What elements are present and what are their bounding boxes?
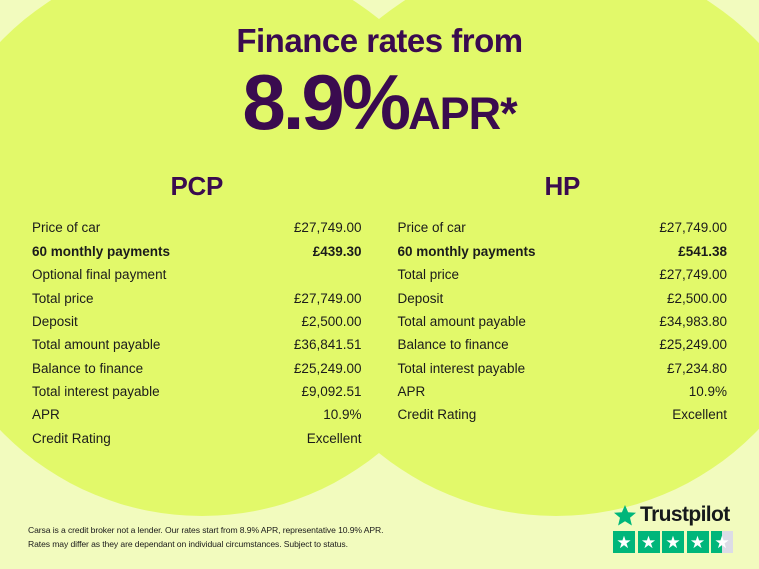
row-value: £2,500.00 (301, 314, 361, 329)
hero-rate: 8.9%APR* (0, 63, 759, 141)
row-label: Total interest payable (32, 384, 160, 399)
disclaimer-line-2: Rates may differ as they are dependant o… (28, 538, 383, 551)
hp-rows: Price of car£27,749.00 60 monthly paymen… (398, 216, 728, 426)
row-value: £27,749.00 (294, 291, 362, 306)
row-value: £25,249.00 (294, 361, 362, 376)
trustpilot-wordmark: Trustpilot (640, 503, 730, 527)
star-icon: ★ (687, 531, 709, 553)
trustpilot-star-icon (613, 504, 637, 527)
table-row: Deposit£2,500.00 (32, 310, 362, 333)
star-glyph: ★ (711, 531, 733, 553)
footer: Carsa is a credit broker not a lender. O… (0, 495, 759, 569)
row-label: Deposit (398, 291, 444, 306)
table-row: Credit RatingExcellent (398, 403, 728, 426)
trustpilot-logo: Trustpilot (613, 503, 737, 527)
star-icon: ★ (638, 531, 660, 553)
trustpilot-rating[interactable]: Trustpilot ★ ★ ★ ★ ★ (613, 503, 737, 553)
row-label: Total price (398, 267, 460, 282)
star-icon: ★ (662, 531, 684, 553)
row-label: Total amount payable (398, 314, 526, 329)
row-label: APR (398, 384, 426, 399)
disclaimer-text: Carsa is a credit broker not a lender. O… (28, 524, 383, 551)
row-value: £34,983.80 (659, 314, 727, 329)
table-row: Price of car£27,749.00 (398, 216, 728, 239)
table-row: Price of car£27,749.00 (32, 216, 362, 239)
row-label: Balance to finance (398, 337, 509, 352)
table-row: Credit RatingExcellent (32, 427, 362, 450)
row-label: 60 monthly payments (32, 244, 170, 259)
table-row: 60 monthly payments£541.38 (398, 240, 728, 263)
table-row: Balance to finance£25,249.00 (398, 333, 728, 356)
row-value: £2,500.00 (667, 291, 727, 306)
row-value: Excellent (307, 431, 362, 446)
row-value: 10.9% (689, 384, 727, 399)
table-row: Total price£27,749.00 (32, 286, 362, 309)
table-row: APR10.9% (32, 403, 362, 426)
row-label: Price of car (398, 220, 466, 235)
row-value: £541.38 (678, 244, 727, 259)
star-half-icon: ★ (711, 531, 733, 553)
table-row: Optional final payment (32, 263, 362, 286)
finance-column-hp: HP Price of car£27,749.00 60 monthly pay… (380, 171, 746, 450)
hero-rate-suffix: APR* (408, 88, 517, 139)
row-value: £9,092.51 (301, 384, 361, 399)
pcp-rows: Price of car£27,749.00 60 monthly paymen… (32, 216, 362, 450)
row-label: Total interest payable (398, 361, 526, 376)
table-row: 60 monthly payments£439.30 (32, 240, 362, 263)
row-value: £27,749.00 (659, 267, 727, 282)
page-title: Finance rates from (0, 0, 759, 59)
table-row: Total price£27,749.00 (398, 263, 728, 286)
finance-column-pcp: PCP Price of car£27,749.00 60 monthly pa… (14, 171, 380, 450)
row-value: £25,249.00 (659, 337, 727, 352)
table-row: Balance to finance£25,249.00 (32, 357, 362, 380)
row-value: Excellent (672, 407, 727, 422)
star-icon: ★ (613, 531, 635, 553)
table-row: Total amount payable£34,983.80 (398, 310, 728, 333)
row-label: 60 monthly payments (398, 244, 536, 259)
row-value: £439.30 (313, 244, 362, 259)
row-value: 10.9% (323, 407, 361, 422)
column-title-pcp: PCP (32, 171, 362, 202)
star-glyph: ★ (662, 531, 684, 553)
table-row: APR10.9% (398, 380, 728, 403)
row-label: Total amount payable (32, 337, 160, 352)
row-label: Deposit (32, 314, 78, 329)
row-label: APR (32, 407, 60, 422)
row-value: £36,841.51 (294, 337, 362, 352)
row-label: Credit Rating (398, 407, 477, 422)
hero-rate-value: 8.9% (242, 58, 408, 146)
star-glyph: ★ (687, 531, 709, 553)
table-row: Total interest payable£7,234.80 (398, 357, 728, 380)
table-row: Total amount payable£36,841.51 (32, 333, 362, 356)
disclaimer-line-1: Carsa is a credit broker not a lender. O… (28, 524, 383, 537)
star-glyph: ★ (638, 531, 660, 553)
row-value: £7,234.80 (667, 361, 727, 376)
row-label: Balance to finance (32, 361, 143, 376)
row-label: Total price (32, 291, 94, 306)
star-glyph: ★ (613, 531, 635, 553)
column-title-hp: HP (398, 171, 728, 202)
row-label: Optional final payment (32, 267, 166, 282)
row-value: £27,749.00 (659, 220, 727, 235)
finance-comparison: PCP Price of car£27,749.00 60 monthly pa… (0, 171, 759, 450)
trustpilot-stars: ★ ★ ★ ★ ★ (613, 531, 737, 553)
table-row: Total interest payable£9,092.51 (32, 380, 362, 403)
row-label: Price of car (32, 220, 100, 235)
row-value: £27,749.00 (294, 220, 362, 235)
table-row: Deposit£2,500.00 (398, 286, 728, 309)
row-label: Credit Rating (32, 431, 111, 446)
promo-card: Finance rates from 8.9%APR* PCP Price of… (0, 0, 759, 569)
